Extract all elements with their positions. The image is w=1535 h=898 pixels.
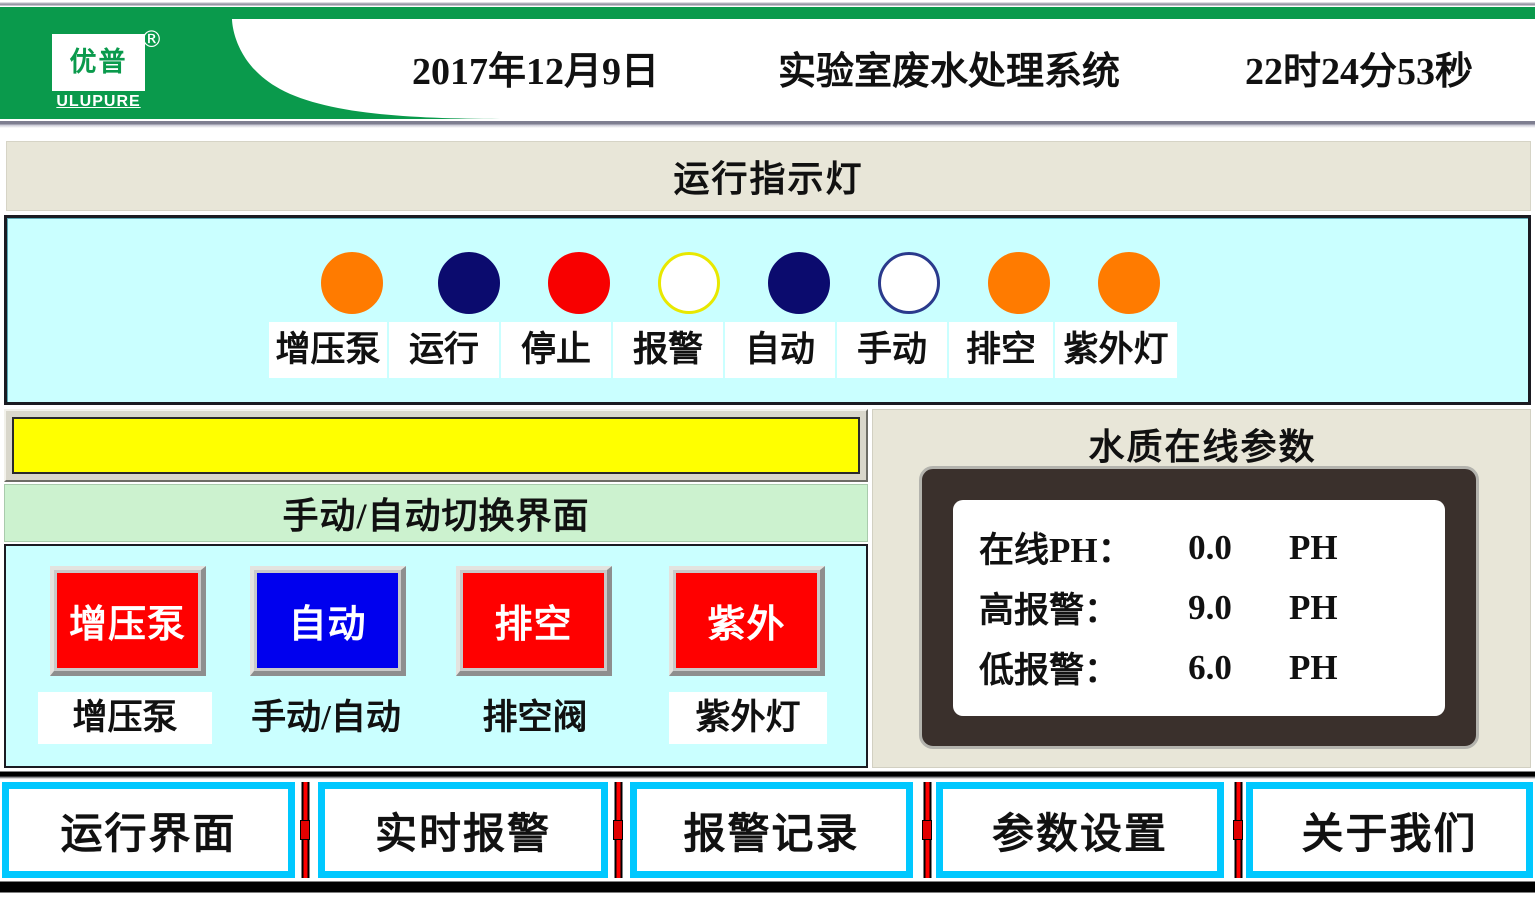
nav-separator-dot-icon (1233, 820, 1243, 840)
indicator-lamp-4 (634, 252, 744, 314)
control-button-caption: 排空 (494, 593, 572, 648)
control-button-caption: 自动 (288, 593, 366, 648)
alarm-banner-frame (4, 409, 868, 482)
control-button-3[interactable]: 排空 (456, 566, 612, 676)
water-quality-readout: 在线PH：0.0PH高报警：9.0PH低报警：6.0PH (953, 500, 1445, 716)
indicator-label-row: 增压泵运行停止报警自动手动排空紫外灯 (269, 322, 1179, 378)
nav-separator-dot-icon (922, 820, 932, 840)
water-quality-value-3: 6.0 (1151, 648, 1269, 688)
indicator-lights-panel: 增压泵运行停止报警自动手动排空紫外灯 (4, 215, 1531, 405)
brand-logo-en: ULUPURE (52, 93, 145, 111)
indicator-lamp-row (290, 252, 1184, 314)
water-quality-display-bezel: 在线PH：0.0PH高报警：9.0PH低报警：6.0PH (919, 466, 1479, 749)
indicators-section-title: 运行指示灯 (6, 141, 1531, 211)
header-time: 22时24分53秒 (1245, 53, 1473, 91)
control-button-face: 自动 (254, 570, 401, 671)
control-button-caption: 紫外 (707, 593, 785, 648)
nav-separator-dot-icon (613, 820, 623, 840)
indicator-label-4: 报警 (613, 322, 723, 378)
water-quality-unit-3: PH (1269, 648, 1338, 688)
brand-logo-cn: 优普 (70, 49, 128, 76)
indicator-label-1: 增压泵 (269, 322, 387, 378)
window-top-edge (0, 0, 1535, 7)
indicator-lamp-6 (854, 252, 964, 314)
nav-tab-4[interactable]: 参数设置 (936, 782, 1224, 878)
control-button-face: 增压泵 (54, 570, 201, 671)
indicators-section-title-text: 运行指示灯 (673, 150, 863, 202)
bottom-navigation: 运行界面实时报警报警记录参数设置关于我们 (0, 782, 1535, 882)
header-title: 实验室废水处理系统 (778, 53, 1120, 91)
indicator-label-8: 紫外灯 (1055, 322, 1177, 378)
indicator-label-5: 自动 (725, 322, 835, 378)
control-button-label-4: 紫外灯 (669, 692, 827, 744)
water-quality-key-2: 高报警： (979, 582, 1151, 633)
control-button-1[interactable]: 增压泵 (50, 566, 206, 676)
lamp-icon (658, 252, 720, 314)
water-quality-value-1: 0.0 (1151, 528, 1269, 568)
switch-panel: 增压泵自动排空紫外 增压泵手动/自动排空阀紫外灯 (4, 544, 868, 768)
nav-tab-1[interactable]: 运行界面 (2, 782, 295, 878)
lamp-icon (768, 252, 830, 314)
app-header: 优普 ® ULUPURE 2017年12月9日 实验室废水处理系统 22时24分… (0, 7, 1535, 121)
indicator-label-7: 排空 (949, 322, 1053, 378)
nav-separator-4 (1232, 782, 1244, 878)
registered-trademark-icon: ® (140, 29, 163, 52)
lamp-icon (438, 252, 500, 314)
control-button-label-3: 排空阀 (456, 692, 614, 744)
water-quality-row: 在线PH：0.0PH (979, 518, 1445, 578)
nav-separator-dot-icon (300, 820, 310, 840)
indicator-lamp-8 (1074, 252, 1184, 314)
control-button-face: 紫外 (673, 570, 820, 671)
header-divider (0, 121, 1535, 129)
nav-tab-label: 运行界面 (60, 800, 236, 861)
water-quality-key-3: 低报警： (979, 642, 1151, 693)
water-quality-unit-2: PH (1269, 588, 1338, 628)
nav-tab-2[interactable]: 实时报警 (318, 782, 608, 878)
nav-top-divider (0, 770, 1535, 780)
nav-tab-3[interactable]: 报警记录 (630, 782, 913, 878)
nav-tab-label: 报警记录 (683, 800, 859, 861)
nav-separator-2 (612, 782, 624, 878)
water-quality-panel: 水质在线参数 在线PH：0.0PH高报警：9.0PH低报警：6.0PH (872, 409, 1531, 768)
water-quality-title: 水质在线参数 (873, 418, 1532, 470)
nav-separator-1 (299, 782, 311, 878)
control-button-face: 排空 (460, 570, 607, 671)
lamp-icon (321, 252, 383, 314)
lamp-icon (548, 252, 610, 314)
lamp-icon (878, 252, 940, 314)
lamp-icon (988, 252, 1050, 314)
indicator-lamp-2 (414, 252, 524, 314)
switch-section-title-text: 手动/自动切换界面 (282, 487, 589, 539)
control-button-4[interactable]: 紫外 (669, 566, 825, 676)
control-button-label-1: 增压泵 (38, 692, 212, 744)
indicator-lamp-5 (744, 252, 854, 314)
indicator-lamp-7 (964, 252, 1074, 314)
indicator-label-3: 停止 (501, 322, 611, 378)
control-button-caption: 增压泵 (69, 593, 186, 648)
water-quality-value-2: 9.0 (1151, 588, 1269, 628)
lamp-icon (1098, 252, 1160, 314)
nav-tab-label: 关于我们 (1301, 800, 1477, 861)
control-button-label-2: 手动/自动 (222, 692, 430, 744)
hmi-screen: 优普 ® ULUPURE 2017年12月9日 实验室废水处理系统 22时24分… (0, 0, 1535, 898)
nav-bottom-divider (0, 878, 1535, 898)
switch-section-title: 手动/自动切换界面 (4, 484, 868, 542)
alarm-banner (12, 417, 860, 474)
indicator-lamp-3 (524, 252, 634, 314)
indicator-label-2: 运行 (389, 322, 499, 378)
header-date: 2017年12月9日 (412, 53, 659, 91)
nav-separator-3 (921, 782, 933, 878)
control-button-row: 增压泵自动排空紫外 (6, 566, 870, 681)
water-quality-row: 高报警：9.0PH (979, 578, 1445, 638)
brand-logo: 优普 (52, 34, 145, 91)
nav-tab-label: 实时报警 (375, 800, 551, 861)
indicator-label-6: 手动 (837, 322, 947, 378)
nav-tab-label: 参数设置 (992, 800, 1168, 861)
water-quality-unit-1: PH (1269, 528, 1338, 568)
control-button-2[interactable]: 自动 (250, 566, 406, 676)
indicator-lamp-1 (290, 252, 414, 314)
water-quality-key-1: 在线PH： (979, 522, 1151, 573)
water-quality-row: 低报警：6.0PH (979, 638, 1445, 698)
nav-tab-5[interactable]: 关于我们 (1246, 782, 1533, 878)
